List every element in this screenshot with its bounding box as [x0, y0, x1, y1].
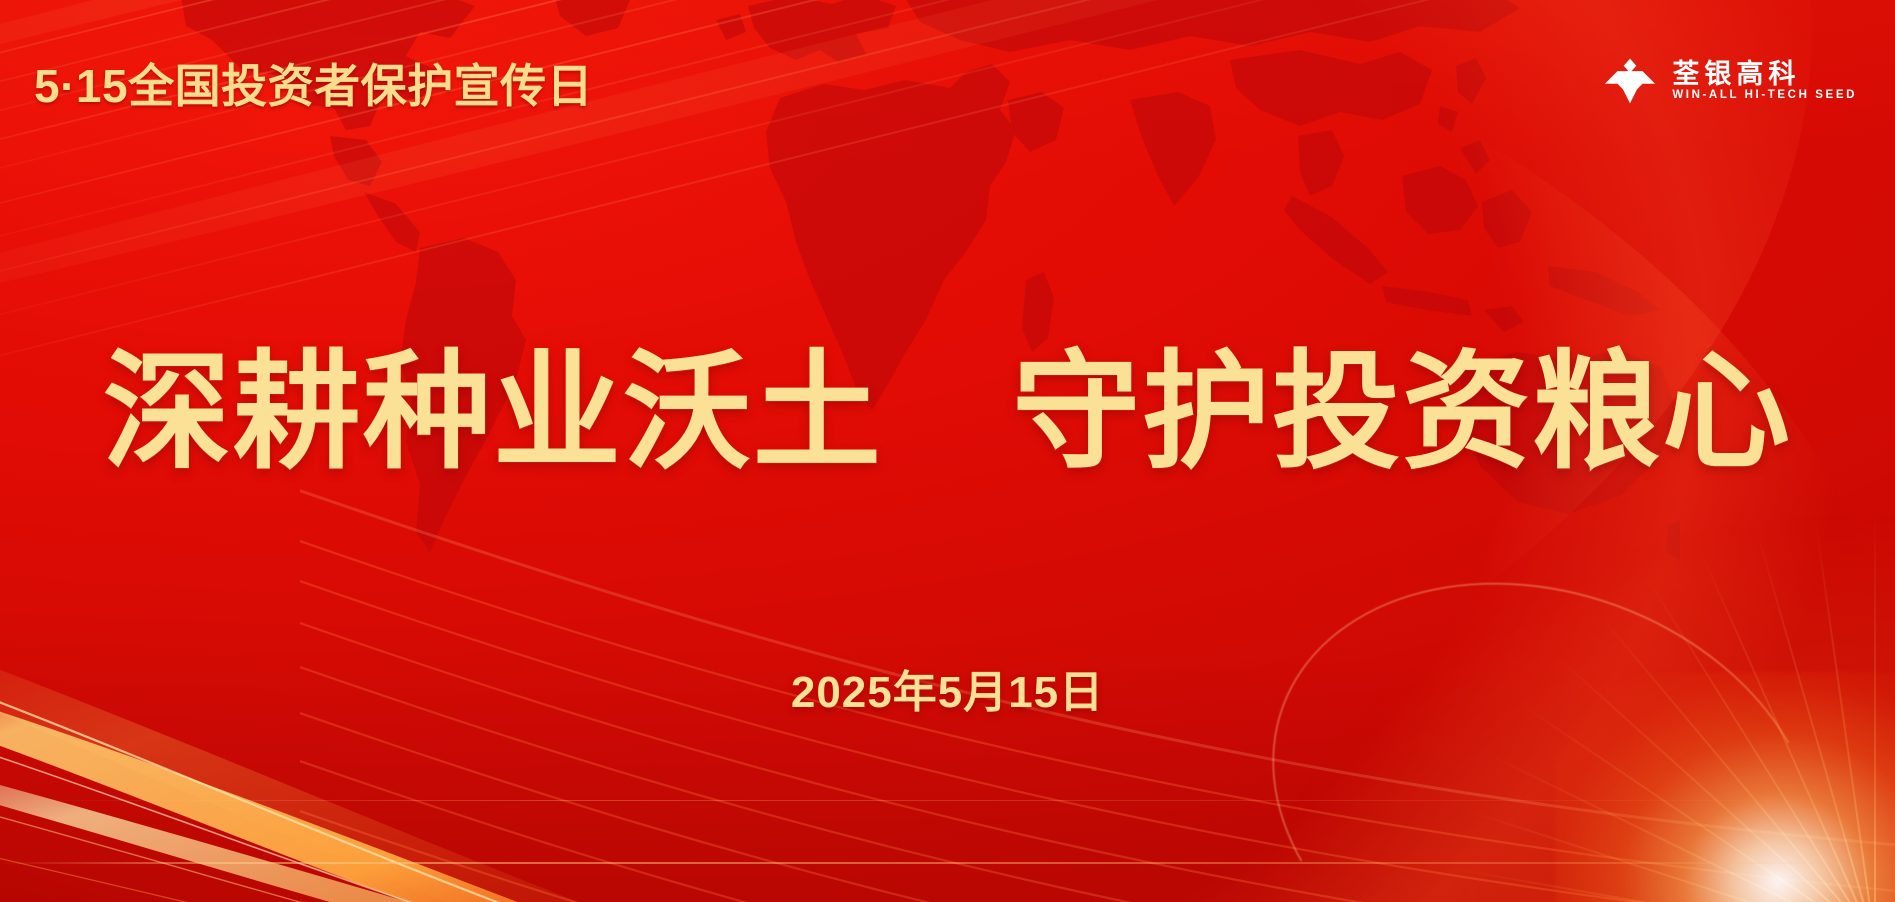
- company-logo: 荃银高科 WIN-ALL HI-TECH SEED: [1601, 55, 1857, 107]
- investor-protection-banner: 5·15全国投资者保护宣传日 荃银高科 WIN-ALL HI-TECH SEED…: [0, 0, 1895, 902]
- campaign-eyebrow-title: 5·15全国投资者保护宣传日: [34, 50, 593, 116]
- logo-company-name-cn: 荃银高科: [1672, 61, 1857, 88]
- win-all-chevron-logo-icon: [1601, 55, 1659, 107]
- main-headline: 深耕种业沃土 守护投资粮心: [0, 337, 1895, 488]
- headline-part-right: 守护投资粮心: [1012, 341, 1792, 484]
- logo-text-block: 荃银高科 WIN-ALL HI-TECH SEED: [1672, 61, 1857, 102]
- logo-company-name-en: WIN-ALL HI-TECH SEED: [1672, 90, 1857, 102]
- banner-content: 5·15全国投资者保护宣传日 荃银高科 WIN-ALL HI-TECH SEED…: [0, 0, 1895, 902]
- event-date: 2025年5月15日: [0, 656, 1895, 720]
- headline-part-left: 深耕种业沃土: [103, 341, 883, 484]
